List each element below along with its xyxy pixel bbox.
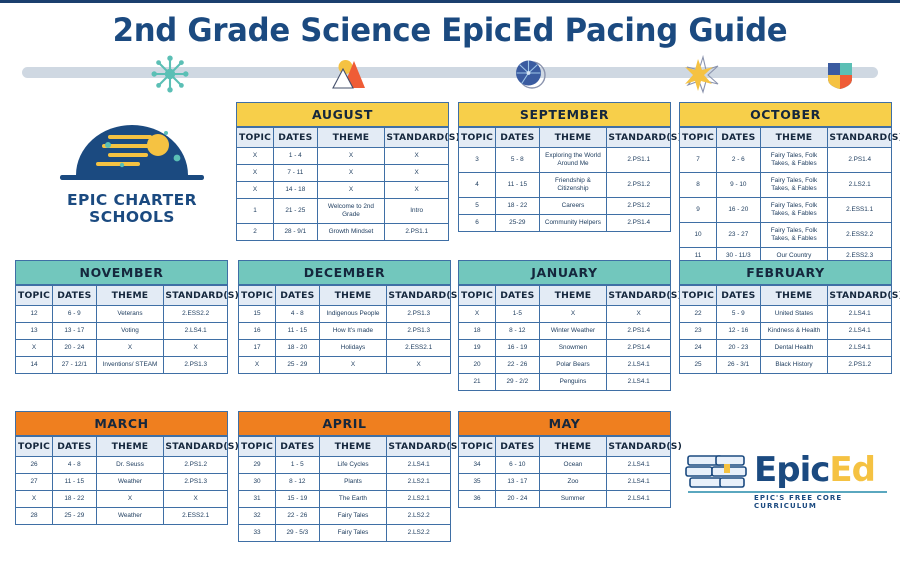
cell-theme: X — [96, 491, 164, 508]
cell-theme: Veterans — [96, 306, 164, 323]
cell-topic: 33 — [239, 525, 276, 542]
cell-std: 2.PS1.3 — [164, 474, 228, 491]
cell-std: 2.PS1.4 — [828, 148, 892, 173]
star-burst-icon — [680, 54, 720, 94]
logo-name-line2: SCHOOLS — [89, 208, 175, 226]
cell-topic: 19 — [459, 340, 496, 357]
cell-theme: Plants — [319, 474, 387, 491]
cell-dates: 1 - 5 — [276, 457, 319, 474]
cell-dates: 1 - 4 — [274, 148, 317, 165]
cell-dates: 16 - 20 — [717, 198, 760, 223]
cell-std: 2.PS1.1 — [385, 224, 449, 241]
cell-theme: Weather — [96, 474, 164, 491]
cell-topic: 2 — [237, 224, 274, 241]
column-header-topic: TOPIC — [459, 286, 496, 306]
cell-dates: 14 - 18 — [274, 182, 317, 199]
cell-theme: Dental Health — [760, 340, 828, 357]
cell-std: X — [385, 182, 449, 199]
cell-topic: 29 — [239, 457, 276, 474]
table-header-row: TOPICDATESTHEMESTANDARD(S) — [459, 128, 671, 148]
cell-theme: Voting — [96, 323, 164, 340]
page-title: 2nd Grade Science EpicEd Pacing Guide — [18, 11, 882, 49]
month-table-november: NOVEMBERTOPICDATESTHEMESTANDARD(S)126 - … — [15, 260, 228, 374]
table-row: 1427 - 12/1Inventions/ STEAM2.PS1.3 — [16, 357, 228, 374]
month-header-october: OCTOBER — [679, 102, 892, 127]
column-header-theme: THEME — [760, 286, 828, 306]
pacing-guide-page: 2nd Grade Science EpicEd Pacing Guide — [0, 0, 900, 588]
cell-std: 2.PS1.3 — [387, 323, 451, 340]
table-row: 2022 - 26Polar Bears2.LS4.1 — [459, 357, 671, 374]
cell-dates: 15 - 19 — [276, 491, 319, 508]
table-header-row: TOPICDATESTHEMESTANDARD(S) — [459, 286, 671, 306]
cell-std: X — [387, 357, 451, 374]
cell-topic: X — [239, 357, 276, 374]
cell-topic: 26 — [16, 457, 53, 474]
column-header-theme: THEME — [539, 437, 607, 457]
cell-topic: 16 — [239, 323, 276, 340]
cell-topic: 4 — [459, 173, 496, 198]
cell-theme: The Earth — [319, 491, 387, 508]
cell-theme: Zoo — [539, 474, 607, 491]
cell-dates: 25 - 29 — [53, 508, 96, 525]
table-row: 126 - 9Veterans2.ESS2.2 — [16, 306, 228, 323]
cell-std: 2.PS1.4 — [607, 323, 671, 340]
table-row: X1 - 4XX — [237, 148, 449, 165]
cell-theme: Community Helpers — [539, 215, 607, 232]
epiced-word-ed: Ed — [829, 450, 875, 490]
cell-topic: 15 — [239, 306, 276, 323]
month-table-january: JANUARYTOPICDATESTHEMESTANDARD(S)X1-5XX1… — [458, 260, 671, 391]
table-row: 35 - 8Exploring the World Around Me2.PS1… — [459, 148, 671, 173]
table-header-row: TOPICDATESTHEMESTANDARD(S) — [680, 286, 892, 306]
table-row: 2312 - 16Kindness & Health2.LS4.1 — [680, 323, 892, 340]
cell-dates: 22 - 26 — [496, 357, 539, 374]
month-table-december: DECEMBERTOPICDATESTHEMESTANDARD(S)154 - … — [238, 260, 451, 374]
column-header-theme: THEME — [96, 437, 164, 457]
cell-dates: 20 - 23 — [717, 340, 760, 357]
month-header-february: FEBRUARY — [679, 260, 892, 285]
books-stack-icon — [684, 452, 750, 494]
cell-theme: X — [317, 182, 385, 199]
column-header-theme: THEME — [319, 437, 387, 457]
table-row: 2129 - 2/2Penguins2.LS4.1 — [459, 374, 671, 391]
cell-topic: 31 — [239, 491, 276, 508]
cell-theme: Welcome to 2nd Grade — [317, 199, 385, 224]
epiced-divider — [688, 491, 887, 493]
cell-dates: 25 - 29 — [276, 357, 319, 374]
month-header-december: DECEMBER — [238, 260, 451, 285]
cell-dates: 7 - 11 — [274, 165, 317, 182]
cell-dates: 6 - 9 — [53, 306, 96, 323]
cell-topic: X — [16, 491, 53, 508]
cell-std: X — [164, 491, 228, 508]
cell-std: 2.LS4.1 — [607, 374, 671, 391]
epic-charter-schools-logo: EPIC CHARTER SCHOOLS — [46, 109, 218, 227]
cell-topic: 1 — [237, 199, 274, 224]
column-header-standards: STANDARD(S) — [164, 286, 228, 306]
table-row: 1023 - 27Fairy Tales, Folk Takes, & Fabl… — [680, 223, 892, 248]
cell-theme: Summer — [539, 491, 607, 508]
month-header-august: AUGUST — [236, 102, 449, 127]
cell-topic: 36 — [459, 491, 496, 508]
cell-topic: 30 — [239, 474, 276, 491]
cell-topic: 18 — [459, 323, 496, 340]
table-row: 518 - 22Careers2.PS1.2 — [459, 198, 671, 215]
table-header-row: TOPICDATESTHEMESTANDARD(S) — [459, 437, 671, 457]
table-header-row: TOPICDATESTHEMESTANDARD(S) — [239, 286, 451, 306]
cell-dates: 13 - 17 — [53, 323, 96, 340]
month-table-may: MAYTOPICDATESTHEMESTANDARD(S)346 - 10Oce… — [458, 411, 671, 508]
shield-blocks-icon — [820, 54, 860, 94]
cell-theme: Kindness & Health — [760, 323, 828, 340]
cell-theme: Fairy Tales, Folk Takes, & Fables — [760, 198, 828, 223]
cell-theme: Polar Bears — [539, 357, 607, 374]
cell-dates: 9 - 10 — [717, 173, 760, 198]
cell-topic: 27 — [16, 474, 53, 491]
column-header-dates: DATES — [496, 286, 539, 306]
cell-dates: 5 - 9 — [717, 306, 760, 323]
cell-std: 2.ESS2.1 — [164, 508, 228, 525]
cell-std: 2.PS1.2 — [607, 198, 671, 215]
cell-std: 2.LS4.1 — [607, 357, 671, 374]
cell-topic: 3 — [459, 148, 496, 173]
table-row: X1-5XX — [459, 306, 671, 323]
column-header-standards: STANDARD(S) — [828, 128, 892, 148]
table-header-row: TOPICDATESTHEMESTANDARD(S) — [680, 128, 892, 148]
cell-topic: X — [237, 165, 274, 182]
table-row: X18 - 22XX — [16, 491, 228, 508]
table-row: X20 - 24XX — [16, 340, 228, 357]
cell-std: 2.ESS2.2 — [828, 223, 892, 248]
cell-theme: Fairy Tales, Folk Takes, & Fables — [760, 148, 828, 173]
cell-std: 2.ESS2.1 — [387, 340, 451, 357]
cell-theme: Fairy Tales, Folk Takes, & Fables — [760, 173, 828, 198]
month-header-may: MAY — [458, 411, 671, 436]
column-header-topic: TOPIC — [680, 286, 717, 306]
cell-theme: X — [319, 357, 387, 374]
cell-theme: Fairy Tales — [319, 508, 387, 525]
cell-topic: 7 — [680, 148, 717, 173]
table-row: 121 - 25Welcome to 2nd GradeIntro — [237, 199, 449, 224]
column-header-standards: STANDARD(S) — [387, 437, 451, 457]
month-table-april: APRILTOPICDATESTHEMESTANDARD(S)291 - 5Li… — [238, 411, 451, 542]
cell-dates: 21 - 25 — [274, 199, 317, 224]
table-row: 3513 - 17Zoo2.LS4.1 — [459, 474, 671, 491]
cell-topic: 32 — [239, 508, 276, 525]
month-header-january: JANUARY — [458, 260, 671, 285]
table-row: 1611 - 15How It's made2.PS1.3 — [239, 323, 451, 340]
month-table-february: FEBRUARYTOPICDATESTHEMESTANDARD(S)225 - … — [679, 260, 892, 374]
cell-std: 2.PS1.1 — [607, 148, 671, 173]
column-header-standards: STANDARD(S) — [828, 286, 892, 306]
cell-dates: 13 - 17 — [496, 474, 539, 491]
cell-theme: Ocean — [539, 457, 607, 474]
cell-theme: Friendship & Citizenship — [539, 173, 607, 198]
cell-theme: X — [539, 306, 607, 323]
table-row: 411 - 15Friendship & Citizenship2.PS1.2 — [459, 173, 671, 198]
cell-dates: 29 - 2/2 — [496, 374, 539, 391]
cell-std: 2.LS4.1 — [387, 457, 451, 474]
cell-dates: 20 - 24 — [53, 340, 96, 357]
cell-theme: Penguins — [539, 374, 607, 391]
cell-std: Intro — [385, 199, 449, 224]
table-row: 1916 - 19Snowmen2.PS1.4 — [459, 340, 671, 357]
column-header-theme: THEME — [96, 286, 164, 306]
month-table-august: AUGUSTTOPICDATESTHEMESTANDARD(S)X1 - 4XX… — [236, 102, 449, 241]
table-header-row: TOPICDATESTHEMESTANDARD(S) — [16, 286, 228, 306]
cell-topic: 24 — [680, 340, 717, 357]
column-header-theme: THEME — [760, 128, 828, 148]
column-header-topic: TOPIC — [459, 437, 496, 457]
comet-dome-icon — [46, 109, 218, 189]
cell-theme: Dr. Seuss — [96, 457, 164, 474]
column-header-theme: THEME — [539, 128, 607, 148]
cell-dates: 8 - 12 — [496, 323, 539, 340]
column-header-dates: DATES — [717, 286, 760, 306]
cell-topic: 5 — [459, 198, 496, 215]
table-row: 3620 - 24Summer2.LS4.1 — [459, 491, 671, 508]
cell-topic: 8 — [680, 173, 717, 198]
cell-dates: 29 - 5/3 — [276, 525, 319, 542]
cell-topic: 12 — [16, 306, 53, 323]
cell-topic: 35 — [459, 474, 496, 491]
cell-topic: X — [237, 148, 274, 165]
table-row: 2825 - 29Weather2.ESS2.1 — [16, 508, 228, 525]
cell-topic: 6 — [459, 215, 496, 232]
cell-dates: 11 - 15 — [53, 474, 96, 491]
table-row: 291 - 5Life Cycles2.LS4.1 — [239, 457, 451, 474]
cell-dates: 1-5 — [496, 306, 539, 323]
column-header-dates: DATES — [53, 437, 96, 457]
column-header-standards: STANDARD(S) — [607, 437, 671, 457]
table-row: X7 - 11XX — [237, 165, 449, 182]
globe-compass-icon — [510, 54, 550, 94]
column-header-topic: TOPIC — [239, 437, 276, 457]
cell-topic: 25 — [680, 357, 717, 374]
cell-std: X — [164, 340, 228, 357]
logo-name-line1: EPIC CHARTER — [67, 191, 197, 209]
table-row: 2420 - 23Dental Health2.LS4.1 — [680, 340, 892, 357]
column-header-topic: TOPIC — [459, 128, 496, 148]
cell-theme: Winter Weather — [539, 323, 607, 340]
table-row: 346 - 10Ocean2.LS4.1 — [459, 457, 671, 474]
cell-std: 2.LS4.1 — [164, 323, 228, 340]
epiced-tagline: EPIC'S FREE CORE CURRICULUM — [754, 494, 887, 510]
table-row: 3329 - 5/3Fairy Tales2.LS2.2 — [239, 525, 451, 542]
cell-theme: Inventions/ STEAM — [96, 357, 164, 374]
cell-topic: 28 — [16, 508, 53, 525]
column-header-standards: STANDARD(S) — [607, 128, 671, 148]
cell-dates: 18 - 22 — [496, 198, 539, 215]
cell-std: X — [385, 165, 449, 182]
table-row: 1718 - 20Holidays2.ESS2.1 — [239, 340, 451, 357]
cell-dates: 18 - 20 — [276, 340, 319, 357]
cell-theme: Fairy Tales, Folk Takes, & Fables — [760, 223, 828, 248]
cell-dates: 26 - 3/1 — [717, 357, 760, 374]
cell-dates: 11 - 15 — [276, 323, 319, 340]
cell-std: 2.PS1.2 — [607, 173, 671, 198]
cell-theme: Careers — [539, 198, 607, 215]
table-header-row: TOPICDATESTHEMESTANDARD(S) — [16, 437, 228, 457]
cell-std: 2.LS4.1 — [828, 340, 892, 357]
table-row: 188 - 12Winter Weather2.PS1.4 — [459, 323, 671, 340]
cell-dates: 11 - 15 — [496, 173, 539, 198]
cell-theme: Snowmen — [539, 340, 607, 357]
cell-std: 2.LS4.1 — [828, 323, 892, 340]
cell-topic: 17 — [239, 340, 276, 357]
cell-dates: 23 - 27 — [717, 223, 760, 248]
cell-dates: 8 - 12 — [276, 474, 319, 491]
column-header-dates: DATES — [274, 128, 317, 148]
cell-theme: Growth Mindset — [317, 224, 385, 241]
cell-dates: 28 - 9/1 — [274, 224, 317, 241]
cell-dates: 4 - 8 — [276, 306, 319, 323]
cell-theme: Weather — [96, 508, 164, 525]
column-header-standards: STANDARD(S) — [387, 286, 451, 306]
epiced-word-epic: Epic — [754, 450, 829, 490]
cell-theme: Holidays — [319, 340, 387, 357]
cell-theme: Black History — [760, 357, 828, 374]
column-header-topic: TOPIC — [16, 437, 53, 457]
month-header-september: SEPTEMBER — [458, 102, 671, 127]
month-table-october: OCTOBERTOPICDATESTHEMESTANDARD(S)72 - 6F… — [679, 102, 892, 265]
epiced-wordmark: EpicEd — [754, 450, 875, 490]
cell-theme: Fairy Tales — [319, 525, 387, 542]
cell-topic: 22 — [680, 306, 717, 323]
cell-std: 2.LS4.1 — [828, 306, 892, 323]
table-row: X25 - 29XX — [239, 357, 451, 374]
cell-std: 2.PS1.3 — [164, 357, 228, 374]
cell-topic: 14 — [16, 357, 53, 374]
column-header-dates: DATES — [496, 437, 539, 457]
epiced-logo: EpicEd EPIC'S FREE CORE CURRICULUM — [682, 448, 887, 510]
column-header-dates: DATES — [276, 286, 319, 306]
month-header-november: NOVEMBER — [15, 260, 228, 285]
cell-dates: 4 - 8 — [53, 457, 96, 474]
cell-std: 2.ESS2.2 — [164, 306, 228, 323]
cell-theme: X — [317, 148, 385, 165]
column-header-dates: DATES — [717, 128, 760, 148]
month-header-april: APRIL — [238, 411, 451, 436]
cell-std: 2.LS2.2 — [387, 525, 451, 542]
cell-std: 2.PS1.4 — [607, 215, 671, 232]
table-row: 225 - 9United States2.LS4.1 — [680, 306, 892, 323]
cell-dates: 12 - 16 — [717, 323, 760, 340]
cell-std: 2.LS4.1 — [607, 457, 671, 474]
table-row: X14 - 18XX — [237, 182, 449, 199]
cell-topic: 21 — [459, 374, 496, 391]
cell-dates: 20 - 24 — [496, 491, 539, 508]
cell-dates: 6 - 10 — [496, 457, 539, 474]
column-header-dates: DATES — [276, 437, 319, 457]
cell-theme: United States — [760, 306, 828, 323]
cell-std: 2.LS4.1 — [607, 474, 671, 491]
column-header-standards: STANDARD(S) — [164, 437, 228, 457]
cell-std: 2.LS2.1 — [387, 491, 451, 508]
column-header-dates: DATES — [53, 286, 96, 306]
cell-dates: 18 - 22 — [53, 491, 96, 508]
cell-theme: How It's made — [319, 323, 387, 340]
cell-std: 2.PS1.2 — [828, 357, 892, 374]
table-header-row: TOPICDATESTHEMESTANDARD(S) — [237, 128, 449, 148]
cell-dates: 25-29 — [496, 215, 539, 232]
cell-std: 2.LS2.2 — [387, 508, 451, 525]
table-header-row: TOPICDATESTHEMESTANDARD(S) — [239, 437, 451, 457]
month-table-march: MARCHTOPICDATESTHEMESTANDARD(S)264 - 8Dr… — [15, 411, 228, 525]
cell-std: X — [385, 148, 449, 165]
cell-std: 2.PS1.2 — [164, 457, 228, 474]
month-header-march: MARCH — [15, 411, 228, 436]
column-header-topic: TOPIC — [237, 128, 274, 148]
cell-dates: 16 - 19 — [496, 340, 539, 357]
cell-theme: Life Cycles — [319, 457, 387, 474]
table-row: 154 - 8Indigenous People2.PS1.3 — [239, 306, 451, 323]
cell-topic: X — [459, 306, 496, 323]
table-row: 308 - 12Plants2.LS2.1 — [239, 474, 451, 491]
cell-theme: Exploring the World Around Me — [539, 148, 607, 173]
table-row: 2526 - 3/1Black History2.PS1.2 — [680, 357, 892, 374]
table-row: 3115 - 19The Earth2.LS2.1 — [239, 491, 451, 508]
column-header-theme: THEME — [539, 286, 607, 306]
cell-std: X — [607, 306, 671, 323]
cell-theme: Indigenous People — [319, 306, 387, 323]
atom-icon — [150, 54, 190, 94]
cell-std: 2.LS4.1 — [607, 491, 671, 508]
column-header-topic: TOPIC — [239, 286, 276, 306]
table-row: 228 - 9/1Growth Mindset2.PS1.1 — [237, 224, 449, 241]
month-table-september: SEPTEMBERTOPICDATESTHEMESTANDARD(S)35 - … — [458, 102, 671, 232]
cell-topic: X — [16, 340, 53, 357]
column-header-standards: STANDARD(S) — [607, 286, 671, 306]
table-row: 89 - 10Fairy Tales, Folk Takes, & Fables… — [680, 173, 892, 198]
column-header-theme: THEME — [319, 286, 387, 306]
cell-std: 2.PS1.4 — [607, 340, 671, 357]
column-header-standards: STANDARD(S) — [385, 128, 449, 148]
table-row: 1313 - 17Voting2.LS4.1 — [16, 323, 228, 340]
cell-std: 2.ESS1.1 — [828, 198, 892, 223]
column-header-topic: TOPIC — [680, 128, 717, 148]
column-header-theme: THEME — [317, 128, 385, 148]
table-row: 3222 - 26Fairy Tales2.LS2.2 — [239, 508, 451, 525]
cell-theme: X — [96, 340, 164, 357]
table-row: 72 - 6Fairy Tales, Folk Takes, & Fables2… — [680, 148, 892, 173]
cell-topic: 13 — [16, 323, 53, 340]
cell-dates: 2 - 6 — [717, 148, 760, 173]
table-row: 264 - 8Dr. Seuss2.PS1.2 — [16, 457, 228, 474]
table-row: 625-29Community Helpers2.PS1.4 — [459, 215, 671, 232]
cell-std: 2.PS1.3 — [387, 306, 451, 323]
cell-topic: X — [237, 182, 274, 199]
cell-topic: 23 — [680, 323, 717, 340]
mountain-sun-icon — [330, 54, 370, 94]
table-row: 2711 - 15Weather2.PS1.3 — [16, 474, 228, 491]
cell-topic: 9 — [680, 198, 717, 223]
cell-dates: 22 - 26 — [276, 508, 319, 525]
cell-std: 2.LS2.1 — [387, 474, 451, 491]
cell-topic: 10 — [680, 223, 717, 248]
column-header-dates: DATES — [496, 128, 539, 148]
cell-dates: 27 - 12/1 — [53, 357, 96, 374]
table-row: 916 - 20Fairy Tales, Folk Takes, & Fable… — [680, 198, 892, 223]
column-header-topic: TOPIC — [16, 286, 53, 306]
cell-dates: 5 - 8 — [496, 148, 539, 173]
cell-topic: 20 — [459, 357, 496, 374]
cell-theme: X — [317, 165, 385, 182]
cell-topic: 34 — [459, 457, 496, 474]
cell-std: 2.LS2.1 — [828, 173, 892, 198]
